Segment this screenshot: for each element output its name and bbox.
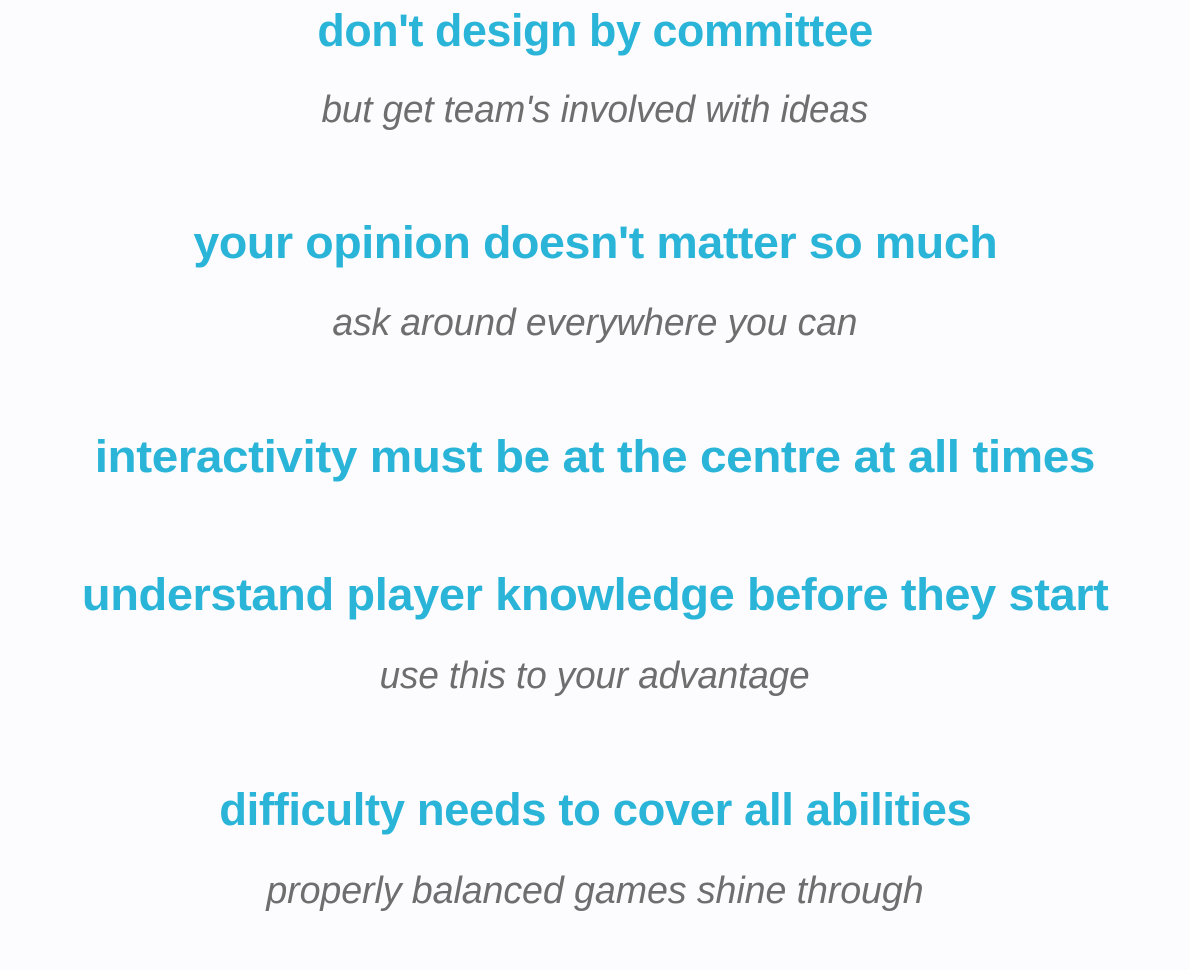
- principle-heading-1: don't design by committee: [317, 8, 872, 53]
- design-principles-slide: don't design by committee but get team's…: [0, 0, 1190, 970]
- principle-block-5: difficulty needs to cover all abilities …: [0, 787, 1190, 910]
- principle-heading-2: your opinion doesn't matter so much: [193, 220, 997, 265]
- principle-block-2: your opinion doesn't matter so much ask …: [0, 220, 1190, 342]
- principle-block-1: don't design by committee but get team's…: [0, 8, 1190, 129]
- principle-subtitle-4: use this to your advantage: [380, 657, 810, 695]
- principle-subtitle-5: properly balanced games shine through: [266, 872, 923, 910]
- principle-block-3: interactivity must be at the centre at a…: [0, 434, 1190, 479]
- principle-subtitle-1: but get team's involved with ideas: [322, 91, 869, 129]
- principle-block-4: understand player knowledge before they …: [0, 572, 1190, 695]
- principle-heading-3: interactivity must be at the centre at a…: [95, 434, 1095, 479]
- principle-subtitle-2: ask around everywhere you can: [332, 304, 857, 342]
- principle-heading-4: understand player knowledge before they …: [82, 572, 1108, 617]
- principle-heading-5: difficulty needs to cover all abilities: [219, 787, 971, 832]
